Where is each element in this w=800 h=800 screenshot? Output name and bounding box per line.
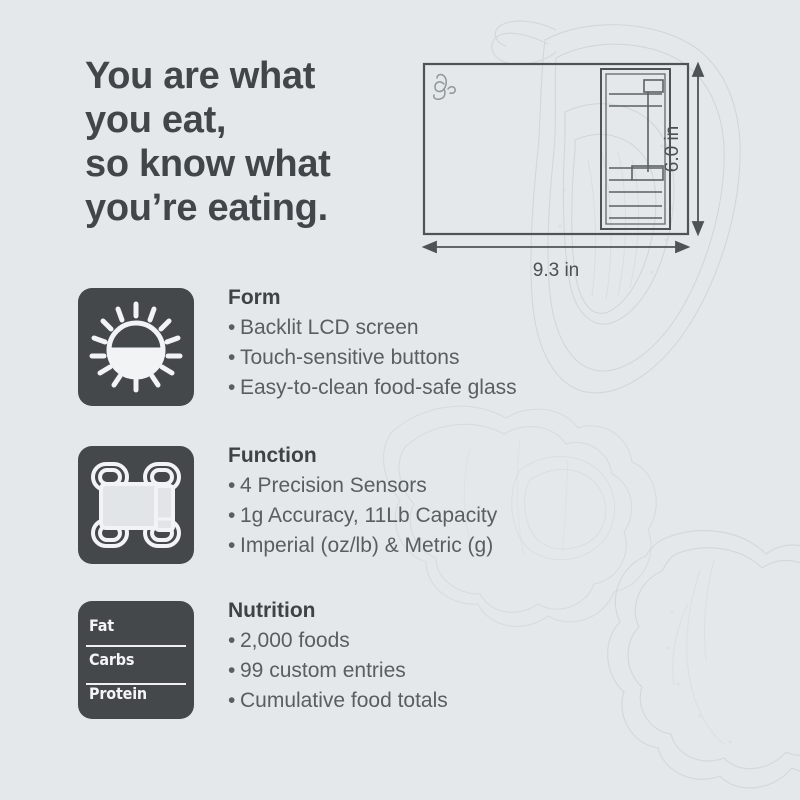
function-icon-tile: [78, 446, 194, 564]
bullet-glyph: •: [228, 626, 240, 656]
nutrition-text-block: Nutrition •2,000 foods •99 custom entrie…: [228, 597, 768, 716]
width-dimension-arrow: [424, 242, 688, 252]
bullet-text: 4 Precision Sensors: [240, 474, 427, 497]
bullet-item: •2,000 foods: [228, 626, 768, 656]
bullet-text: Easy-to-clean food-safe glass: [240, 376, 517, 399]
bullet-glyph: •: [228, 501, 240, 531]
scale-dimension-diagram: 9.3 in 6.0 in: [410, 48, 720, 293]
headline-line-3: so know what: [85, 142, 405, 186]
bullet-item: •4 Precision Sensors: [228, 471, 768, 501]
bullet-glyph: •: [228, 471, 240, 501]
bullet-item: •99 custom entries: [228, 656, 768, 686]
bullet-glyph: •: [228, 686, 240, 716]
nutrition-separator: [86, 645, 186, 647]
nutrition-separator: [86, 683, 186, 685]
bullet-text: Backlit LCD screen: [240, 316, 419, 339]
bullet-glyph: •: [228, 313, 240, 343]
headline-line-1: You are what: [85, 54, 405, 98]
headline: You are what you eat, so know what you’r…: [85, 54, 405, 230]
feature-bullets-function: •4 Precision Sensors •1g Accuracy, 11Lb …: [228, 471, 768, 561]
bullet-item: •Easy-to-clean food-safe glass: [228, 373, 768, 403]
bullet-text: Imperial (oz/lb) & Metric (g): [240, 534, 493, 557]
height-dimension-label: 6.0 in: [662, 126, 683, 172]
bullet-item: •1g Accuracy, 11Lb Capacity: [228, 501, 768, 531]
bullet-text: Cumulative food totals: [240, 689, 448, 712]
display-strip: [156, 486, 173, 530]
sun-disc-lower: [109, 350, 163, 377]
headline-line-2: you eat,: [85, 98, 405, 142]
bullet-text: 2,000 foods: [240, 629, 350, 652]
backlit-sun-icon: [78, 288, 194, 406]
feature-title-function: Function: [228, 442, 768, 470]
four-sensors-platform-icon: [78, 446, 194, 564]
feature-bullets-nutrition: •2,000 foods •99 custom entries •Cumulat…: [228, 626, 768, 716]
headline-line-4: you’re eating.: [85, 186, 405, 230]
feature-title-form: Form: [228, 284, 768, 312]
nutrition-label-icon: Fat Carbs Protein: [78, 601, 194, 719]
script-monogram-logo: [434, 75, 455, 100]
infographic-page: You are what you eat, so know what you’r…: [0, 0, 800, 800]
lcd-control-panel: [601, 69, 670, 229]
form-icon-tile: [78, 288, 194, 406]
bullet-item: •Backlit LCD screen: [228, 313, 768, 343]
bullet-text: Touch-sensitive buttons: [240, 346, 459, 369]
bullet-text: 99 custom entries: [240, 659, 406, 682]
bullet-glyph: •: [228, 373, 240, 403]
height-dimension-arrow: [693, 64, 703, 234]
feature-bullets-form: •Backlit LCD screen •Touch-sensitive but…: [228, 313, 768, 403]
bullet-glyph: •: [228, 656, 240, 686]
bullet-glyph: •: [228, 531, 240, 561]
bullet-text: 1g Accuracy, 11Lb Capacity: [240, 504, 497, 527]
feature-title-nutrition: Nutrition: [228, 597, 768, 625]
nutrition-row-carbs: Carbs: [78, 646, 194, 676]
lcd-control-panel-inner: [606, 74, 665, 224]
form-text-block: Form •Backlit LCD screen •Touch-sensitiv…: [228, 284, 768, 403]
nutrition-row-fat: Fat: [78, 612, 194, 642]
function-text-block: Function •4 Precision Sensors •1g Accura…: [228, 442, 768, 561]
lcd-panel-detail: [609, 80, 663, 218]
bullet-glyph: •: [228, 343, 240, 373]
bullet-item: •Touch-sensitive buttons: [228, 343, 768, 373]
bullet-item: •Imperial (oz/lb) & Metric (g): [228, 531, 768, 561]
bullet-item: •Cumulative food totals: [228, 686, 768, 716]
nutrition-icon-tile: Fat Carbs Protein: [78, 601, 194, 719]
width-dimension-label: 9.3 in: [533, 260, 579, 281]
